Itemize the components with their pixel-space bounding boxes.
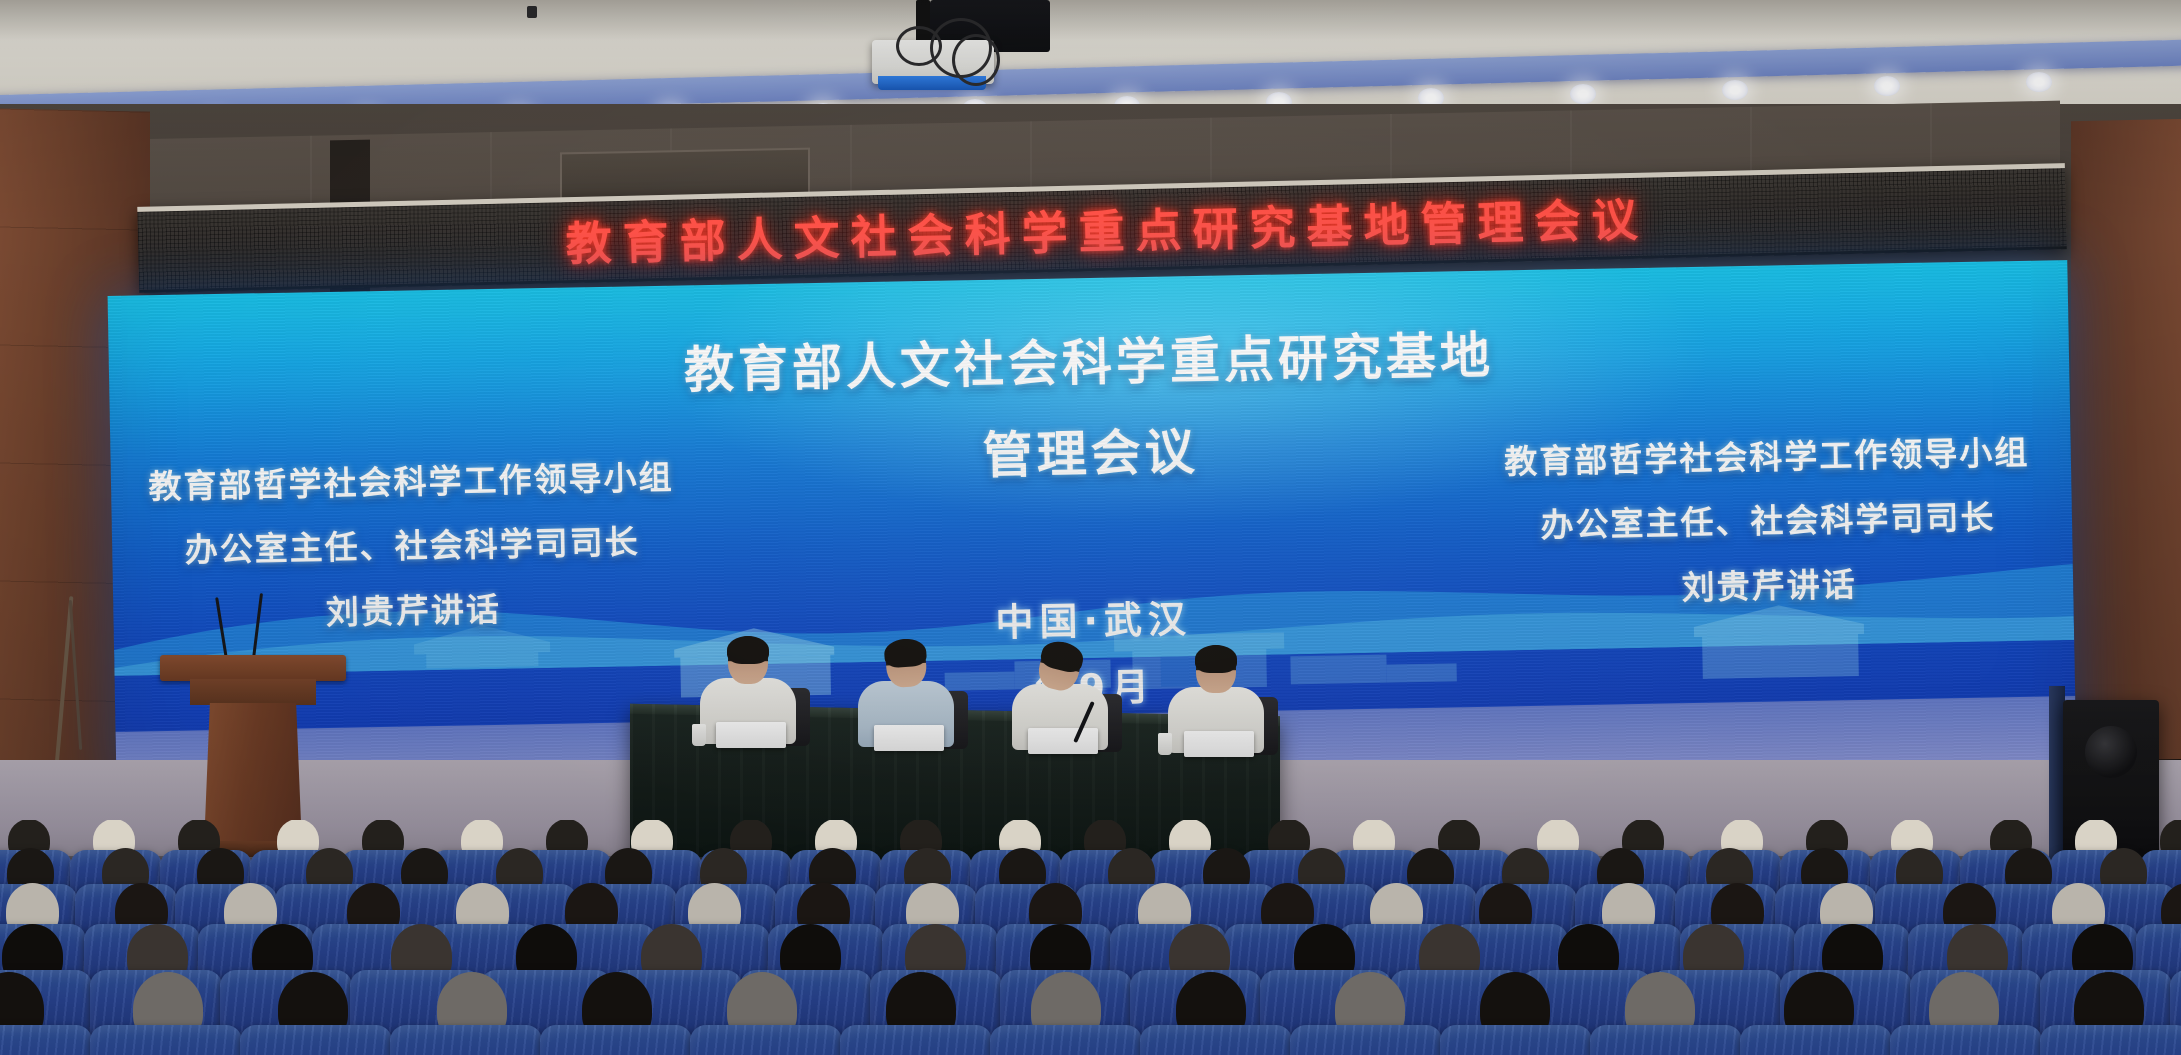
panelist-head xyxy=(728,636,768,684)
panelist-hair xyxy=(883,638,927,669)
panelist-name-card xyxy=(716,722,786,748)
water-cup xyxy=(692,724,706,746)
right-wood-wall-panel xyxy=(2071,119,2181,762)
left-overlay-line-1: 教育部哲学社会科学工作领导小组 xyxy=(108,445,722,521)
audience-seat[interactable] xyxy=(390,1025,542,1055)
pa-speaker-driver xyxy=(2085,726,2137,778)
audience-seat[interactable]: 东木物业 xyxy=(0,1025,92,1055)
audience-seat[interactable]: 东木物业 xyxy=(1440,1025,1592,1055)
conference-hall-photo: 教育部人文社会科学重点研究基地管理会议 xyxy=(0,0,2181,1055)
podium-neck xyxy=(190,679,316,705)
right-overlay-line-1: 教育部哲学社会科学工作领导小组 xyxy=(1456,420,2076,496)
panelist xyxy=(1168,645,1264,757)
panelist-name-card xyxy=(1184,731,1254,757)
audience-seat[interactable]: 东木物业 xyxy=(840,1025,992,1055)
panelist-hair xyxy=(1195,645,1237,673)
audience-seat[interactable]: 东木物业 xyxy=(1140,1025,1292,1055)
panelist xyxy=(858,639,954,751)
screen-main-title: 教育部人文社会科学重点研究基地 管理会议 xyxy=(588,309,1591,509)
panelist-head xyxy=(884,638,927,689)
ceiling-nub-left xyxy=(527,6,537,18)
audience-seat[interactable] xyxy=(1590,1025,1742,1055)
audience-seat[interactable] xyxy=(690,1025,842,1055)
screen-left-overlay-text: 教育部哲学社会科学工作领导小组 办公室主任、社会科学司司长 刘贵芹讲话 xyxy=(108,445,724,649)
screen-title-line-2: 管理会议 xyxy=(590,400,1591,509)
audience-seat[interactable]: 东木物业 xyxy=(240,1025,392,1055)
panelist-head xyxy=(1196,645,1236,693)
right-overlay-line-3: 刘贵芹讲话 xyxy=(1459,549,2077,625)
left-overlay-line-3: 刘贵芹讲话 xyxy=(108,573,724,649)
audience-seat[interactable] xyxy=(1890,1025,2042,1055)
audience-seat[interactable] xyxy=(1290,1025,1442,1055)
screen-title-line-1: 教育部人文社会科学重点研究基地 xyxy=(588,309,1589,418)
audience-seating: 东木物业东木物业东木物业东木物业东木物业东木物业东木物业东木物业东木物业东木物业… xyxy=(0,820,2181,1055)
podium-top xyxy=(160,655,346,681)
audience-seat[interactable]: 东木物业 xyxy=(2040,1025,2181,1055)
audience-seat[interactable] xyxy=(990,1025,1142,1055)
panelist-hair xyxy=(727,636,769,664)
panelist-hair xyxy=(1039,638,1087,675)
ceiling-downlight xyxy=(1722,80,1748,100)
led-banner-text: 教育部人文社会科学重点研究基地管理会议 xyxy=(555,184,1649,275)
audience-seat[interactable]: 东木物业 xyxy=(540,1025,692,1055)
projector-cable-loop-2 xyxy=(952,34,1000,86)
ceiling-shadow xyxy=(0,0,2181,40)
water-cup xyxy=(1158,733,1172,755)
audience-seat[interactable] xyxy=(90,1025,242,1055)
audience-seat[interactable]: 东木物业 xyxy=(1740,1025,1892,1055)
panelist xyxy=(1012,642,1108,754)
screen-right-overlay-text: 教育部哲学社会科学工作领导小组 办公室主任、社会科学司司长 刘贵芹讲话 xyxy=(1456,420,2076,624)
right-overlay-line-2: 办公室主任、社会科学司司长 xyxy=(1457,484,2076,560)
panelist-name-card xyxy=(1028,728,1098,754)
panelist xyxy=(700,636,796,748)
projector-cable-loop-3 xyxy=(896,26,942,66)
left-overlay-line-2: 办公室主任、社会科学司司长 xyxy=(108,509,723,585)
ceiling-downlight xyxy=(1570,84,1596,104)
panelist-name-card xyxy=(874,725,944,751)
